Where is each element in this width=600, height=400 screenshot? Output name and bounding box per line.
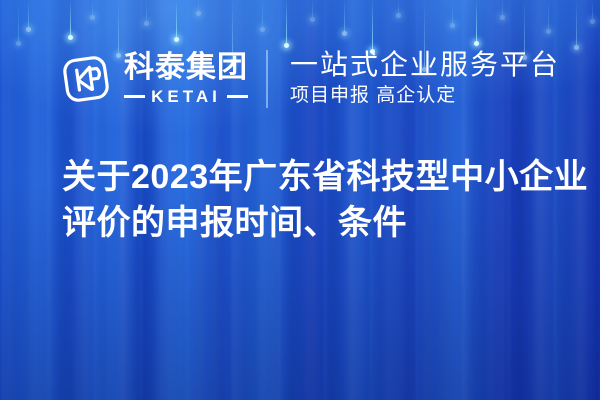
brand-logo[interactable]: 科泰集团 KETAI [60, 53, 248, 105]
brand-name-en: KETAI [145, 88, 227, 105]
banner-headline: 关于2023年广东省科技型中小企业 评价的申报时间、条件 [62, 155, 582, 247]
ketai-diamond-k-monogram-icon [60, 53, 112, 105]
headline-line-2: 评价的申报时间、条件 [62, 201, 582, 247]
header-divider [266, 50, 268, 108]
headline-line-1: 关于2023年广东省科技型中小企业 [62, 155, 582, 201]
brand-tagline: 一站式企业服务平台 项目申报 高企认定 [290, 49, 560, 109]
banner-header: 科泰集团 KETAI 一站式企业服务平台 项目申报 高企认定 [0, 44, 600, 114]
tagline-primary: 一站式企业服务平台 [290, 49, 560, 81]
wordmark-rule-right [227, 95, 248, 98]
promo-banner: 科泰集团 KETAI 一站式企业服务平台 项目申报 高企认定 关于2023年广东… [0, 0, 600, 400]
tagline-secondary: 项目申报 高企认定 [290, 84, 560, 109]
brand-wordmark: 科泰集团 KETAI [124, 53, 248, 105]
wordmark-rule-left [124, 95, 145, 98]
brand-name-cn: 科泰集团 [124, 53, 248, 83]
brand-name-en-row: KETAI [124, 88, 248, 105]
